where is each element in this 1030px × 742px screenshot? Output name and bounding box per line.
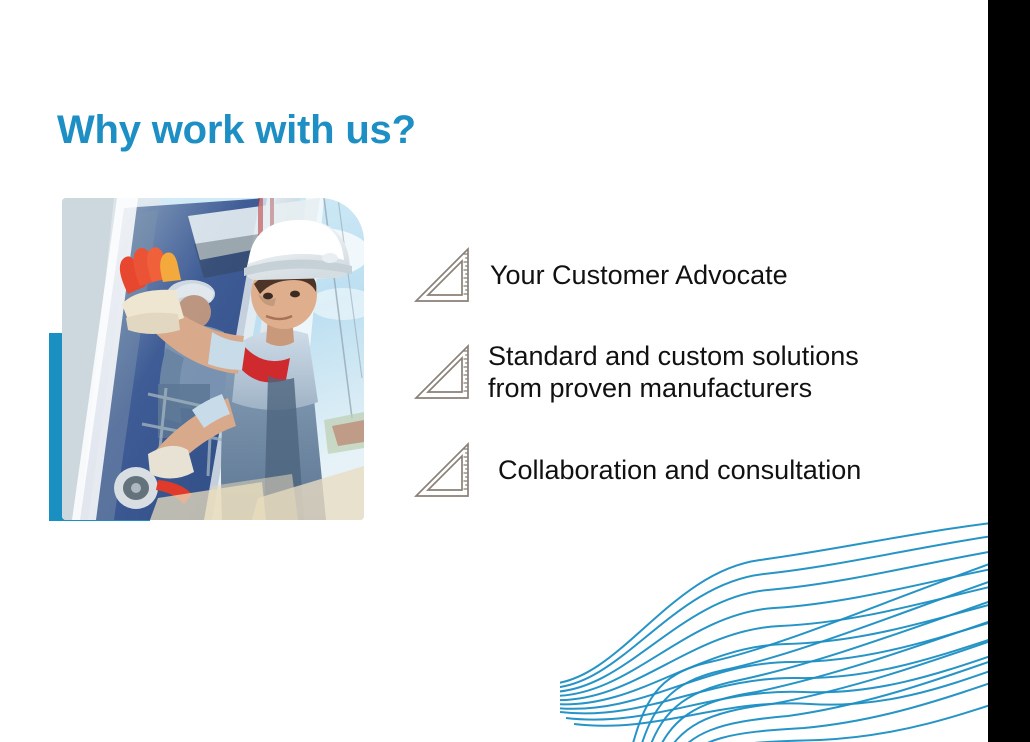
list-item-label: Standard and custom solutions from prove… <box>472 340 859 404</box>
photo-construction-workers <box>62 198 364 520</box>
wave-lines <box>560 512 1030 742</box>
benefits-list: Your Customer Advocate <box>412 236 952 518</box>
spline-wave-decoration <box>560 512 1030 742</box>
set-square-ruler-icon <box>412 342 472 402</box>
list-item: Collaboration and consultation <box>412 430 952 510</box>
photo-illustration <box>62 198 364 520</box>
slide: Why work with us? <box>0 0 1030 742</box>
list-item: Your Customer Advocate <box>412 236 952 314</box>
list-item-label: Collaboration and consultation <box>472 454 861 486</box>
list-item: Standard and custom solutions from prove… <box>412 322 952 422</box>
set-square-ruler-icon <box>412 245 472 305</box>
set-square-ruler-icon <box>412 440 472 500</box>
page-title: Why work with us? <box>57 108 416 153</box>
right-edge-black-band <box>988 0 1030 742</box>
list-item-label: Your Customer Advocate <box>472 259 788 291</box>
